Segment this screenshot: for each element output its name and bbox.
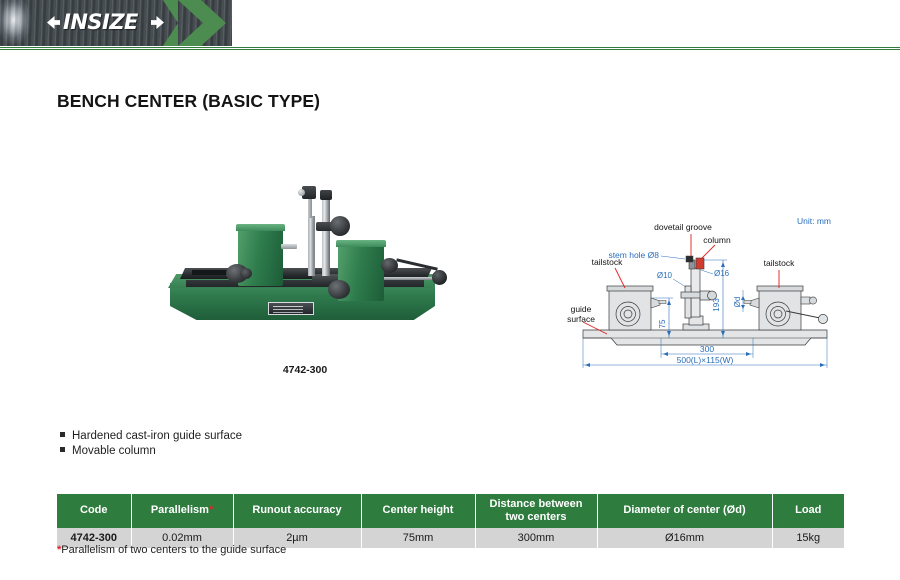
dim-dia-16: Ø16 xyxy=(714,269,730,278)
product-center-pin-left xyxy=(281,244,297,249)
header-divider xyxy=(0,47,900,50)
arrow-right-icon xyxy=(151,16,164,29)
distance-header-line-2: two centers xyxy=(505,511,566,523)
column-header-load: Load xyxy=(772,494,844,528)
product-photo xyxy=(150,158,460,348)
logo-wordmark: INSIZE xyxy=(63,10,138,34)
label-unit-note: Unit: mm xyxy=(797,216,831,226)
dim-between-centers: 300 xyxy=(700,344,714,354)
product-clamp-knob-left-inner xyxy=(240,268,252,279)
product-gauge-rod xyxy=(308,216,315,276)
table-header-row: Code Parallelism* Runout accuracy Center… xyxy=(57,494,844,528)
column-header-diameter-of-center: Diameter of center (Ød) xyxy=(597,494,772,528)
cell-load: 15kg xyxy=(772,528,844,548)
dim-center-height: 75 xyxy=(658,319,667,328)
footnote-text: Parallelism of two centers to the guide … xyxy=(61,544,286,556)
column-header-code: Code xyxy=(57,494,131,528)
label-tailstock-right: tailstock xyxy=(764,258,795,268)
list-item: Movable column xyxy=(60,445,242,457)
column-header-distance-between-centers: Distance betweentwo centers xyxy=(475,494,597,528)
product-nameplate-text xyxy=(273,306,303,307)
product-column-post xyxy=(322,198,330,276)
table-footnote: *Parallelism of two centers to the guide… xyxy=(57,544,286,556)
column-header-parallelism: Parallelism* xyxy=(131,494,233,528)
page-title: BENCH CENTER (BASIC TYPE) xyxy=(57,91,320,112)
specification-table: Code Parallelism* Runout accuracy Center… xyxy=(57,494,844,548)
product-gauge-tip xyxy=(298,189,305,196)
distance-header-line-1: Distance between xyxy=(490,498,583,510)
product-gauge-arm xyxy=(308,198,312,218)
feature-label: Movable column xyxy=(72,445,156,457)
column-header-runout-accuracy: Runout accuracy xyxy=(233,494,361,528)
list-item: Hardened cast-iron guide surface xyxy=(60,430,242,442)
insize-logo: INSIZE xyxy=(47,9,167,37)
cell-center-height: 75mm xyxy=(361,528,475,548)
cell-distance-between-centers: 300mm xyxy=(475,528,597,548)
product-photo-caption: 4742-300 xyxy=(150,364,460,376)
dim-column-height: 193 xyxy=(712,298,721,312)
label-guide-surface-2: surface xyxy=(567,314,595,324)
feature-label: Hardened cast-iron guide surface xyxy=(72,430,242,442)
arrow-left-icon xyxy=(47,16,60,29)
product-nameplate xyxy=(268,302,314,315)
cell-diameter-of-center: Ø16mm xyxy=(597,528,772,548)
product-tailstock-left-cap xyxy=(236,224,285,231)
product-tailstock-right-cap xyxy=(336,240,386,247)
feature-list: Hardened cast-iron guide surface Movable… xyxy=(60,430,242,460)
label-column: column xyxy=(703,235,731,245)
label-tailstock-left: tailstock xyxy=(592,257,623,267)
dim-dia-10: Ø10 xyxy=(657,271,673,280)
square-bullet-icon xyxy=(60,432,65,437)
column-header-parallelism-label: Parallelism xyxy=(151,504,209,516)
technical-drawing: 75 193 300 500(L)×115(W) Ø10 Ø16 Ød xyxy=(565,212,845,372)
product-guide-rail-lower xyxy=(186,280,424,287)
label-guide-surface-1: guide xyxy=(571,304,592,314)
product-lever-ball xyxy=(432,270,447,285)
product-clamp-knob-right xyxy=(328,280,350,299)
product-column-cap xyxy=(320,190,332,200)
product-column-knob xyxy=(330,216,350,236)
column-header-center-height: Center height xyxy=(361,494,475,528)
page-banner: INSIZE xyxy=(0,0,900,46)
asterisk-marker: * xyxy=(209,504,213,516)
square-bullet-icon xyxy=(60,447,65,452)
label-dovetail-groove: dovetail groove xyxy=(654,222,712,232)
dim-base-size: 500(L)×115(W) xyxy=(677,355,734,365)
label-dia-d: Ød xyxy=(733,297,742,308)
